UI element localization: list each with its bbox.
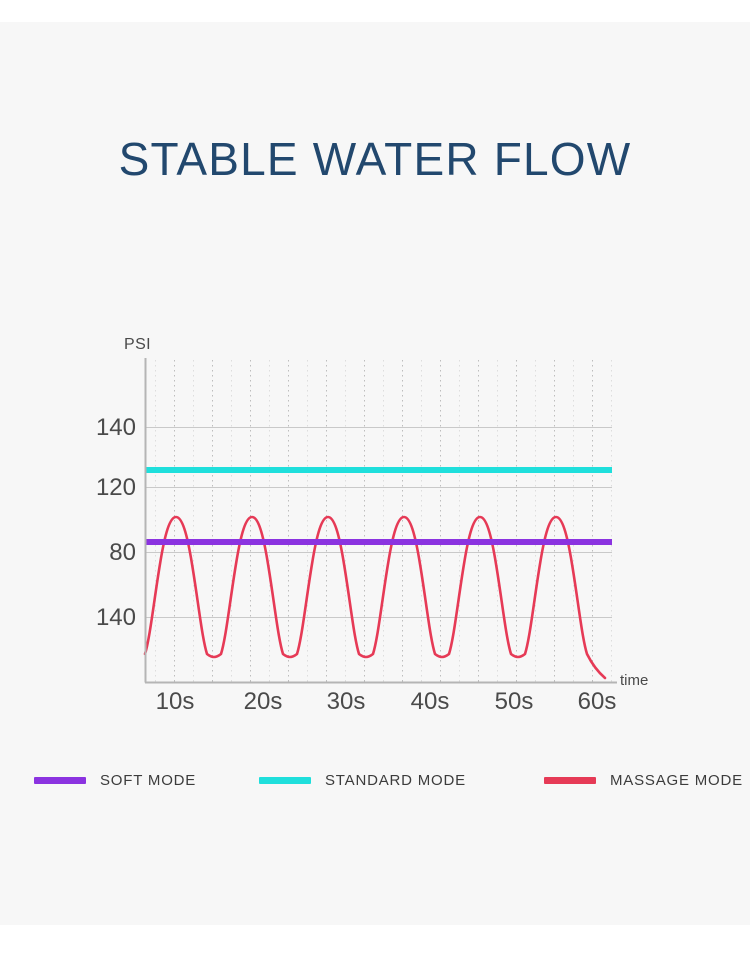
x-tick-label: 60s [578, 688, 617, 716]
x-tick-label: 20s [244, 688, 283, 716]
legend-label-standard-mode: STANDARD MODE [325, 772, 466, 789]
x-tick-label: 50s [495, 688, 534, 716]
x-axis-unit-label: time [620, 672, 648, 689]
legend-item-standard-mode[interactable]: STANDARD MODE [259, 762, 466, 798]
vertical-gridlines-minor [156, 360, 612, 682]
legend-label-soft-mode: SOFT MODE [100, 772, 196, 789]
legend-swatch-massage-mode [544, 777, 596, 784]
page-title: STABLE WATER FLOW [0, 132, 750, 186]
x-tick-label: 10s [156, 688, 195, 716]
legend-swatch-soft-mode [34, 777, 86, 784]
page-root: STABLE WATER FLOW PSI 140 120 80 140 [0, 0, 750, 956]
x-tick-label: 40s [411, 688, 450, 716]
stable-water-flow-chart: PSI 140 120 80 140 [0, 320, 750, 740]
x-tick-label: 30s [327, 688, 366, 716]
legend-swatch-standard-mode [259, 777, 311, 784]
chart-legend: SOFT MODE STANDARD MODE MASSAGE MODE [0, 762, 750, 798]
legend-item-soft-mode[interactable]: SOFT MODE [34, 762, 196, 798]
legend-label-massage-mode: MASSAGE MODE [610, 772, 743, 789]
x-axis-tick-labels: 10s 20s 30s 40s 50s 60s [0, 688, 750, 728]
horizontal-gridlines [145, 428, 612, 618]
legend-item-massage-mode[interactable]: MASSAGE MODE [544, 762, 743, 798]
